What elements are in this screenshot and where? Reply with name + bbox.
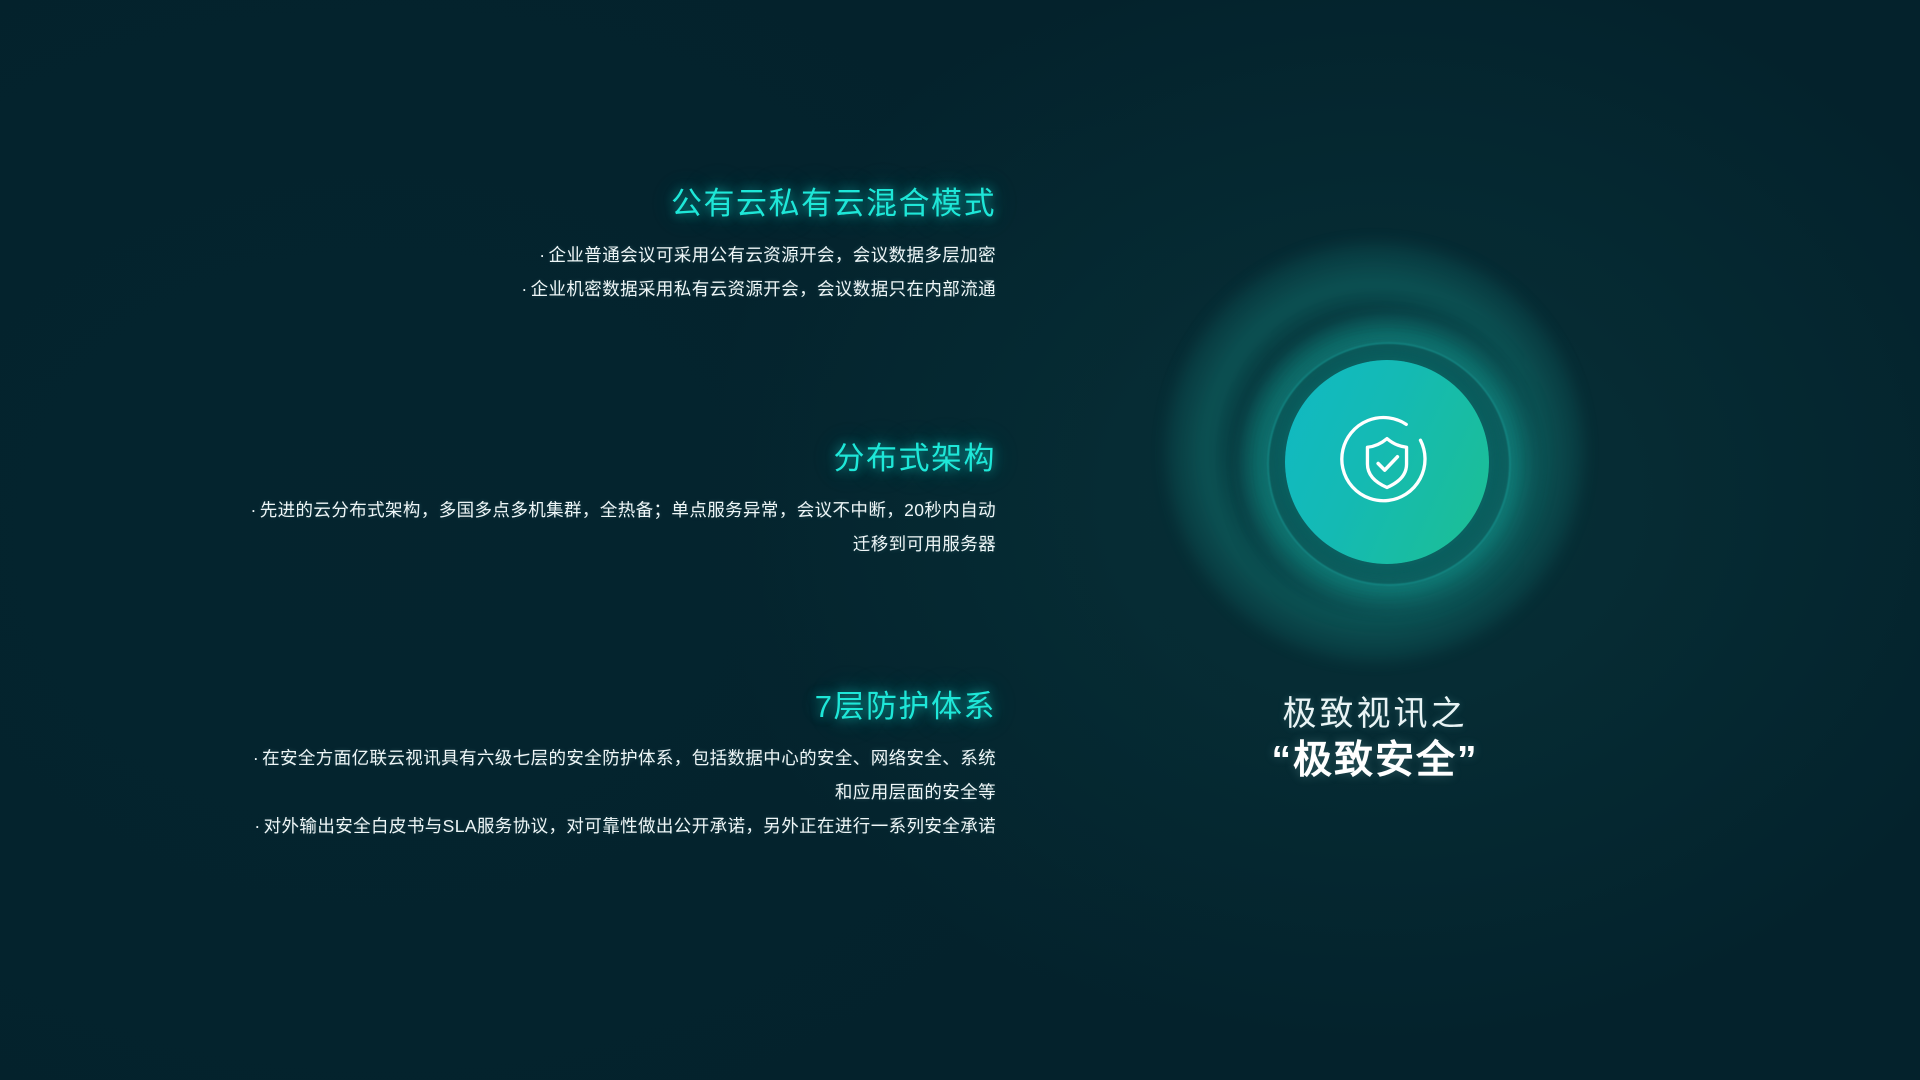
- bullet-text: 先进的云分布式架构，多国多点多机集群，全热备；单点服务异常，会议不中断，20秒内…: [260, 500, 996, 554]
- slide-root: 公有云私有云混合模式 ·企业普通会议可采用公有云资源开会，会议数据多层加密 ·企…: [0, 0, 1920, 1080]
- bullet-item: ·对外输出安全白皮书与SLA服务协议，对可靠性做出公开承诺，另外正在进行一系列安…: [250, 809, 996, 843]
- caption-line-2: “极致安全”: [1155, 738, 1595, 785]
- feature-title-1: 公有云私有云混合模式: [250, 185, 996, 224]
- feature-block-1: 公有云私有云混合模式 ·企业普通会议可采用公有云资源开会，会议数据多层加密 ·企…: [250, 185, 996, 306]
- bullet-marker-icon: ·: [254, 816, 260, 836]
- bullet-text: 企业机密数据采用私有云资源开会，会议数据只在内部流通: [531, 279, 996, 299]
- feature-bullets-1: ·企业普通会议可采用公有云资源开会，会议数据多层加密 ·企业机密数据采用私有云资…: [250, 238, 996, 306]
- feature-block-3: 7层防护体系 ·在安全方面亿联云视讯具有六级七层的安全防护体系，包括数据中心的安…: [250, 688, 996, 843]
- security-badge: 极致视讯之 “极致安全”: [1185, 250, 1565, 850]
- feature-bullets-3: ·在安全方面亿联云视讯具有六级七层的安全防护体系，包括数据中心的安全、网络安全、…: [250, 741, 996, 843]
- bullet-item: ·在安全方面亿联云视讯具有六级七层的安全防护体系，包括数据中心的安全、网络安全、…: [250, 741, 996, 809]
- feature-block-2: 分布式架构 ·先进的云分布式架构，多国多点多机集群，全热备；单点服务异常，会议不…: [250, 440, 996, 561]
- bullet-text: 对外输出安全白皮书与SLA服务协议，对可靠性做出公开承诺，另外正在进行一系列安全…: [264, 816, 996, 836]
- caption-line-1: 极致视讯之: [1155, 695, 1595, 734]
- orb-core: [1285, 360, 1489, 564]
- bullet-text: 在安全方面亿联云视讯具有六级七层的安全防护体系，包括数据中心的安全、网络安全、系…: [262, 748, 996, 802]
- bullet-marker-icon: ·: [539, 245, 545, 265]
- bullet-marker-icon: ·: [253, 748, 259, 768]
- feature-title-2: 分布式架构: [250, 440, 996, 479]
- badge-orb: [1185, 250, 1565, 670]
- feature-list: 公有云私有云混合模式 ·企业普通会议可采用公有云资源开会，会议数据多层加密 ·企…: [250, 0, 996, 1080]
- bullet-item: ·企业普通会议可采用公有云资源开会，会议数据多层加密: [250, 238, 996, 272]
- bullet-item: ·企业机密数据采用私有云资源开会，会议数据只在内部流通: [250, 272, 996, 306]
- feature-title-3: 7层防护体系: [250, 688, 996, 727]
- bullet-marker-icon: ·: [521, 279, 527, 299]
- bullet-text: 企业普通会议可采用公有云资源开会，会议数据多层加密: [549, 245, 997, 265]
- bullet-item: ·先进的云分布式架构，多国多点多机集群，全热备；单点服务异常，会议不中断，20秒…: [250, 493, 996, 561]
- badge-caption: 极致视讯之 “极致安全”: [1155, 695, 1595, 785]
- feature-bullets-2: ·先进的云分布式架构，多国多点多机集群，全热备；单点服务异常，会议不中断，20秒…: [250, 493, 996, 561]
- shield-check-icon: [1335, 410, 1439, 514]
- bullet-marker-icon: ·: [251, 500, 257, 520]
